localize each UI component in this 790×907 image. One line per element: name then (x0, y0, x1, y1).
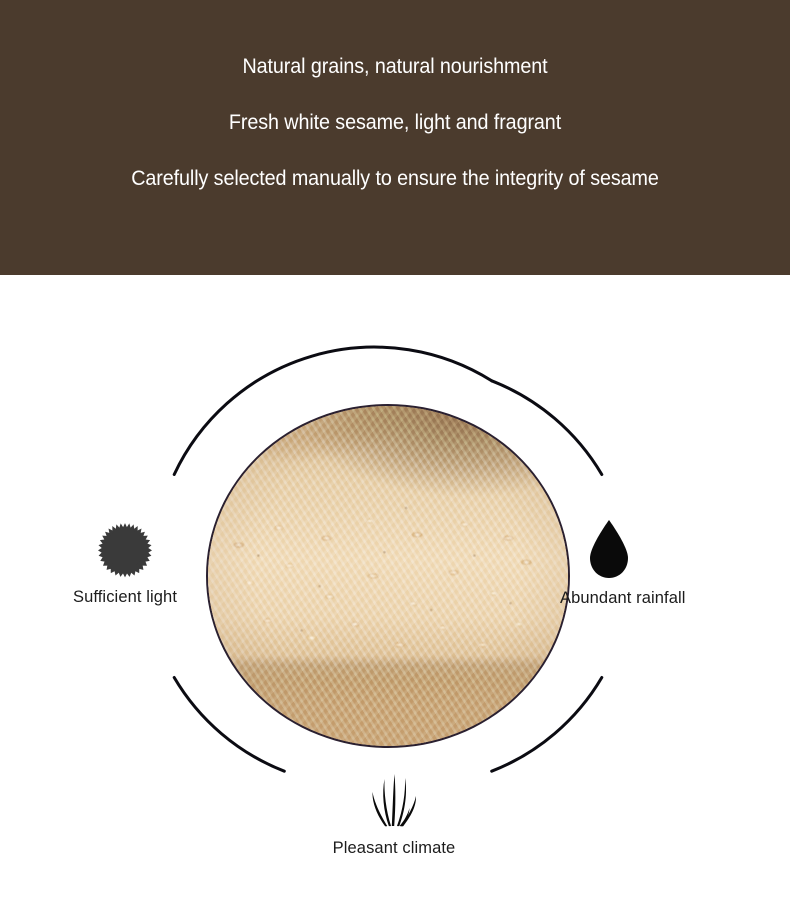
node-pleasant-climate[interactable]: Pleasant climate (288, 772, 500, 858)
sesame-photo-circle (206, 404, 570, 748)
headline-banner: Natural grains, natural nourishment Fres… (0, 0, 790, 275)
growing-conditions-diagram: Sufficient light Abundant rainfall (0, 275, 790, 907)
node-sufficient-light[interactable]: Sufficient light (18, 523, 232, 607)
headline-lines: Natural grains, natural nourishment Fres… (0, 56, 790, 189)
node-label-pleasant-climate: Pleasant climate (288, 839, 500, 858)
node-abundant-rainfall[interactable]: Abundant rainfall (560, 518, 774, 608)
headline-line-2: Fresh white sesame, light and fragrant (24, 112, 767, 133)
headline-line-3: Carefully selected manually to ensure th… (24, 168, 767, 189)
water-drop-icon (588, 518, 774, 580)
product-feature-page: Natural grains, natural nourishment Fres… (0, 0, 790, 907)
node-label-sufficient-light: Sufficient light (18, 588, 232, 607)
sun-icon (18, 523, 232, 579)
headline-line-1: Natural grains, natural nourishment (24, 56, 767, 77)
grass-icon (288, 772, 500, 830)
sesame-photo-vignette (208, 406, 568, 746)
node-label-abundant-rainfall: Abundant rainfall (560, 589, 774, 608)
